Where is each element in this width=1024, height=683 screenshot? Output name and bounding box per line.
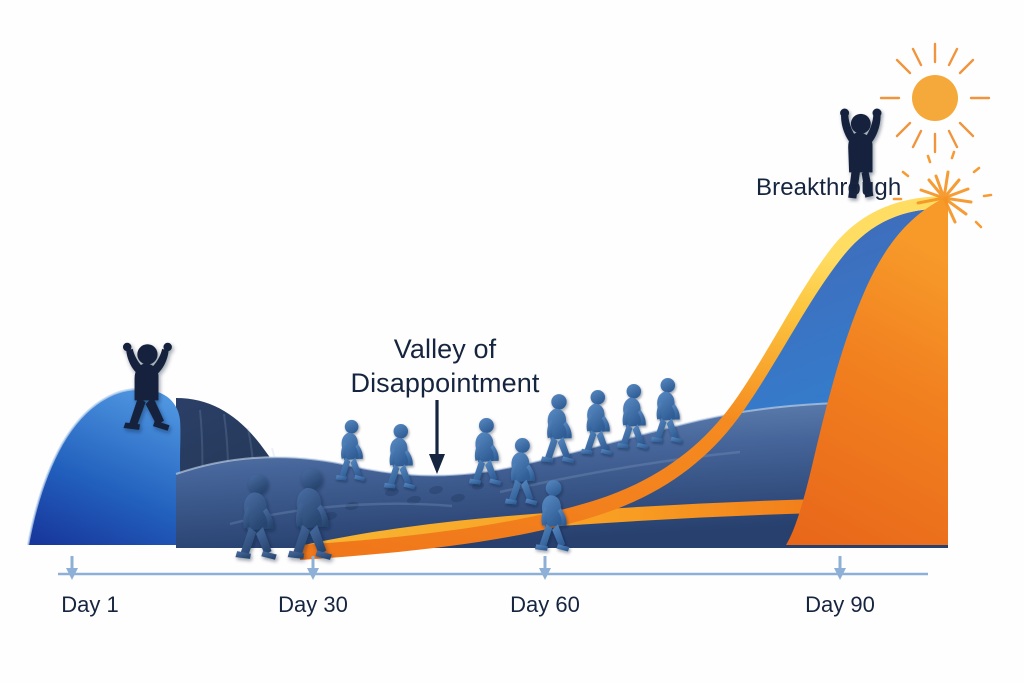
axis-tick-label-day-60: Day 60 bbox=[475, 592, 615, 618]
valley-label-line1: Valley of bbox=[345, 332, 545, 366]
valley-arrow-icon bbox=[429, 400, 445, 474]
sun-icon bbox=[881, 44, 989, 152]
axis-ticks bbox=[72, 556, 840, 572]
valley-of-disappointment-label: Valley of Disappointment bbox=[345, 332, 545, 400]
axis-tick-label-day-30: Day 30 bbox=[243, 592, 383, 618]
timeline-axis bbox=[58, 556, 928, 580]
valley-label-line2: Disappointment bbox=[345, 366, 545, 400]
illustration-canvas: Valley of Disappointment Breakthrough Da… bbox=[0, 0, 1024, 683]
axis-tick-label-day-1: Day 1 bbox=[20, 592, 160, 618]
axis-tick-label-day-90: Day 90 bbox=[770, 592, 910, 618]
breakthrough-label: Breakthrough bbox=[756, 174, 901, 202]
